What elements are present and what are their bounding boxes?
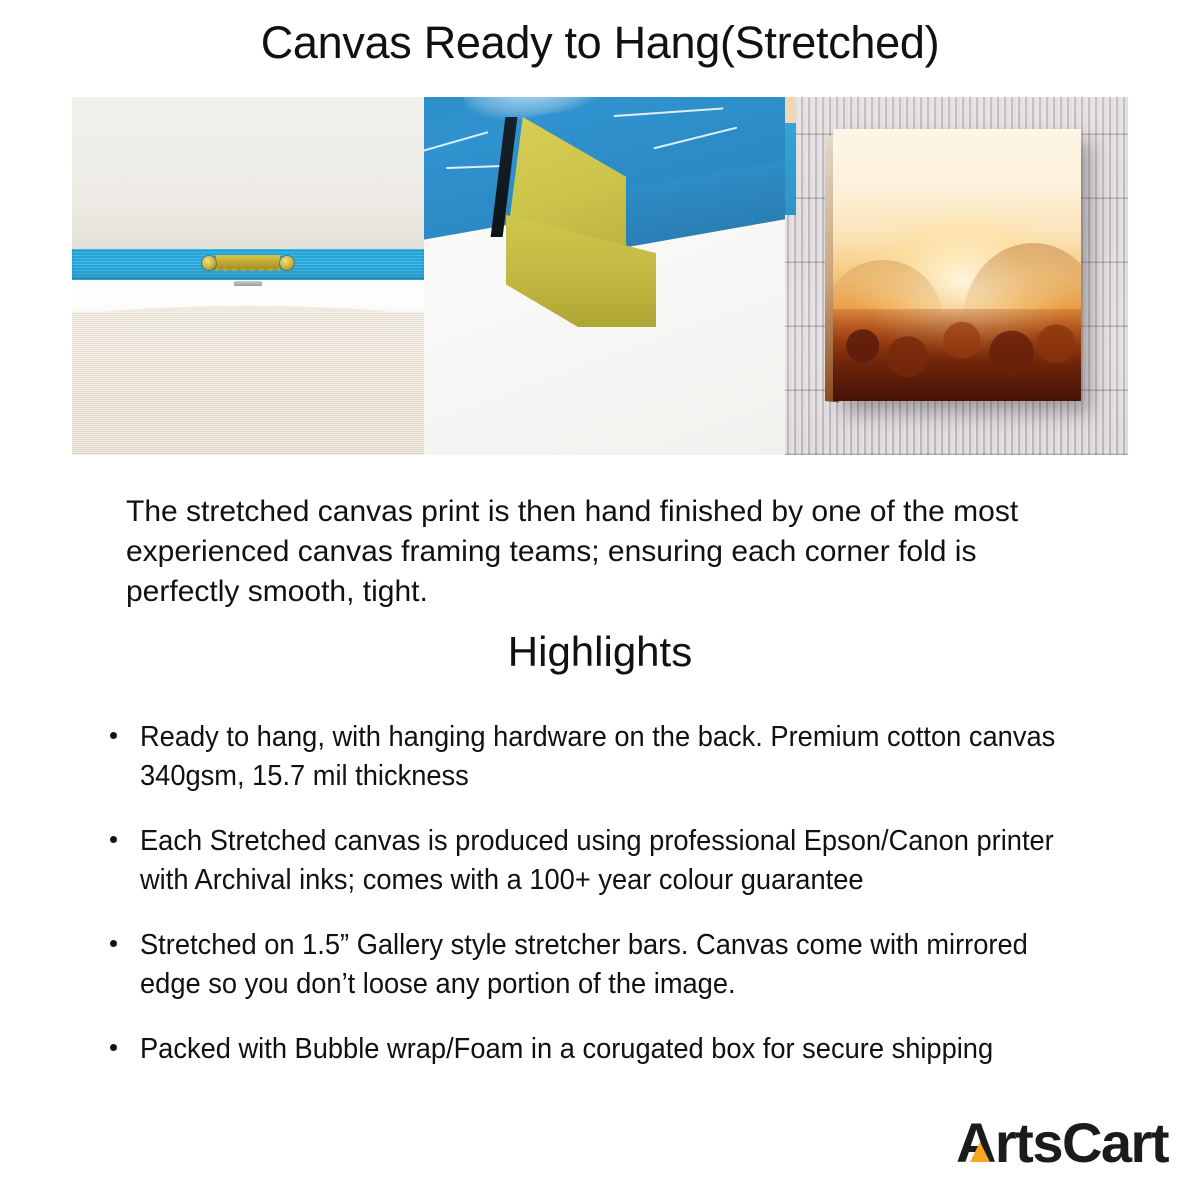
wave-line: [653, 127, 737, 150]
bullet-dot-icon: [110, 940, 117, 947]
infographic-page: Canvas Ready to Hang(Stretched): [0, 0, 1200, 1200]
sunset-landscape-artwork: [833, 129, 1081, 401]
bullet-dot-icon: [110, 836, 117, 843]
highlights-heading: Highlights: [0, 628, 1200, 676]
highlights-list: Ready to hang, with hanging hardware on …: [104, 718, 1124, 1095]
hung-canvas-print: [833, 129, 1081, 401]
list-item-label: Packed with Bubble wrap/Foam in a coruga…: [140, 1030, 1065, 1069]
hanger-bracket: [234, 281, 262, 286]
page-title: Canvas Ready to Hang(Stretched): [0, 17, 1200, 69]
logo-mark: ArtsCart: [956, 1115, 1168, 1171]
cloud-highlight: [457, 97, 617, 128]
canvas-cotton-face: [72, 312, 424, 455]
gallery-image-corner-fold-detail: [424, 97, 785, 455]
wave-line: [614, 107, 724, 117]
product-description: The stretched canvas print is then hand …: [126, 492, 1071, 612]
hanger-screw-left: [202, 256, 216, 270]
wave-line: [446, 165, 500, 169]
foreground-foliage: [833, 309, 1081, 401]
list-item: Stretched on 1.5” Gallery style stretche…: [104, 926, 1124, 1004]
list-item-label: Ready to hang, with hanging hardware on …: [140, 718, 1065, 796]
list-item-label: Each Stretched canvas is produced using …: [140, 822, 1065, 900]
list-item: Ready to hang, with hanging hardware on …: [104, 718, 1124, 796]
list-item-label: Stretched on 1.5” Gallery style stretche…: [140, 926, 1065, 1004]
sawtooth-hanger-icon: [200, 253, 296, 275]
wave-line: [424, 131, 488, 153]
gallery-image-hung-canvas-on-wall: [785, 97, 1128, 455]
triangle-icon: [970, 1142, 990, 1162]
list-item: Packed with Bubble wrap/Foam in a coruga…: [104, 1030, 1124, 1069]
list-item: Each Stretched canvas is produced using …: [104, 822, 1124, 900]
bullet-dot-icon: [110, 732, 117, 739]
hanger-screw-right: [280, 256, 294, 270]
product-image-gallery: [72, 97, 1128, 455]
brand-logo: ArtsCart: [956, 1116, 1168, 1170]
gallery-image-canvas-back-hardware: [72, 97, 424, 455]
bullet-dot-icon: [110, 1044, 117, 1051]
hanger-sawtooth-teeth: [216, 268, 280, 275]
adjacent-panel-edge: [785, 97, 796, 215]
